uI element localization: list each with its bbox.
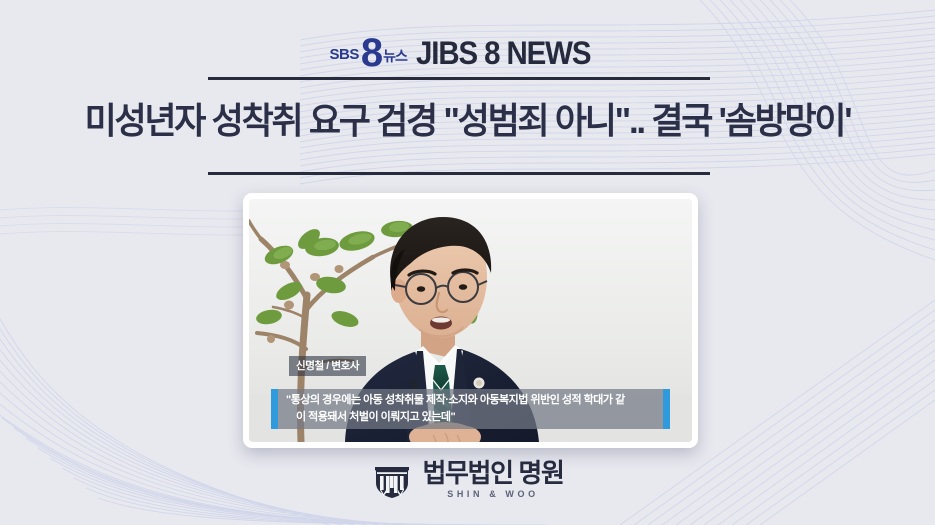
video-frame: 신명철 / 변호사 "통상의 경우에는 아동 성착취물 제작·소지와 아동복지법…	[249, 199, 692, 442]
firm-name: 법무법인 명원	[423, 460, 564, 487]
sbs-news-korean: 뉴스	[383, 49, 407, 63]
caption-quote: "통상의 경우에는 아동 성착취물 제작·소지와 아동복지법 위반인 성적 학대…	[271, 389, 670, 429]
divider-bottom	[208, 172, 710, 175]
caption-quote-line-1: "통상의 경우에는 아동 성착취물 제작·소지와 아동복지법 위반인 성적 학대…	[286, 394, 625, 406]
news-card-slide: SBS 8 뉴스 JIBS 8 NEWS 미성년자 성착취 요구 검경 "성범죄…	[0, 0, 935, 525]
sbs-8-news-logo-icon: SBS 8 뉴스	[330, 35, 407, 69]
jibs-8-news-wordmark: JIBS 8 NEWS	[416, 37, 590, 69]
caption-speaker-name: 신명철 / 변호사	[289, 356, 366, 376]
sbs-wordmark: SBS	[330, 47, 359, 62]
video-thumbnail-card[interactable]: 신명철 / 변호사 "통상의 경우에는 아동 성착취물 제작·소지와 아동복지법…	[243, 193, 698, 448]
firm-subtitle: SHIN & WOO	[423, 490, 564, 500]
firm-logo-block: 법무법인 명원 SHIN & WOO	[0, 460, 935, 500]
divider-top	[208, 77, 710, 80]
shield-pillar-mw-icon	[372, 460, 412, 500]
sbs-eight-glyph: 8	[361, 36, 381, 70]
page-title: 미성년자 성착취 요구 검경 "성범죄 아니".. 결국 '솜방망이'	[14, 100, 921, 141]
channel-logo-row: SBS 8 뉴스 JIBS 8 NEWS	[0, 30, 935, 74]
caption-quote-line-2: 이 적용돼서 처벌이 이뤄지고 있는데"	[286, 409, 657, 426]
firm-text-block: 법무법인 명원 SHIN & WOO	[423, 460, 564, 500]
